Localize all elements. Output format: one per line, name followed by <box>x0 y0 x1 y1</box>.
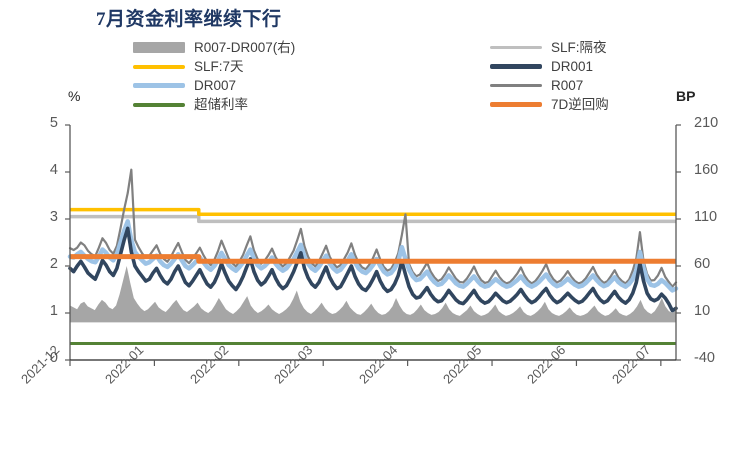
legend-item-slf-overnight[interactable]: SLF:隔夜 <box>490 38 609 57</box>
legend-swatch-icon <box>490 64 542 69</box>
legend-item-r007[interactable]: R007 <box>490 76 609 95</box>
right-axis-tick: 210 <box>694 115 738 131</box>
left-axis-tick: 5 <box>22 115 58 131</box>
right-axis-tick: 10 <box>694 303 738 319</box>
legend-item-r007-dr007[interactable]: R007-DR007(右) <box>133 38 295 57</box>
series-line-slf-overnight <box>70 217 676 222</box>
legend-item-excess-reserve-rate[interactable]: 超储利率 <box>133 95 295 114</box>
left-axis-unit-label: % <box>68 88 80 104</box>
legend-left-column: R007-DR007(右) SLF:7天 DR007 超储利率 <box>133 38 295 114</box>
chart-container: 7月资金利率继续下行 R007-DR007(右) SLF:7天 DR007 超储… <box>0 0 756 459</box>
left-axis-tick: 1 <box>22 303 58 319</box>
series-line-slf-7d <box>70 210 676 215</box>
right-axis-tick: 60 <box>694 256 738 272</box>
plot-area <box>0 0 756 459</box>
legend-item-7d-reverse-repo[interactable]: 7D逆回购 <box>490 95 609 114</box>
legend-label: R007 <box>551 79 583 93</box>
legend-label: DR001 <box>551 60 593 74</box>
right-axis-tick: 160 <box>694 162 738 178</box>
series-line-r007 <box>70 170 676 287</box>
legend-right-column: SLF:隔夜 DR001 R007 7D逆回购 <box>490 38 609 114</box>
left-axis-tick: 4 <box>22 162 58 178</box>
legend-item-slf-7d[interactable]: SLF:7天 <box>133 57 295 76</box>
legend-swatch-icon <box>133 65 185 69</box>
legend-swatch-icon <box>490 46 542 49</box>
legend-swatch-icon <box>133 42 185 53</box>
right-axis-tick: 110 <box>694 209 738 225</box>
legend-label: SLF:隔夜 <box>551 41 607 55</box>
chart-title: 7月资金利率继续下行 <box>96 4 282 31</box>
right-axis-unit-label: BP <box>676 88 695 104</box>
legend-label: R007-DR007(右) <box>194 41 295 55</box>
legend-item-dr007[interactable]: DR007 <box>133 76 295 95</box>
left-axis-tick: 2 <box>22 256 58 272</box>
legend-swatch-icon <box>133 103 185 107</box>
legend-swatch-icon <box>490 84 542 87</box>
left-axis-tick: 3 <box>22 209 58 225</box>
series-line-dr001 <box>70 228 676 310</box>
legend-label: 超储利率 <box>194 98 248 112</box>
legend-swatch-icon <box>133 83 185 88</box>
legend-label: SLF:7天 <box>194 60 244 74</box>
right-axis-tick: -40 <box>694 350 738 366</box>
legend-item-dr001[interactable]: DR001 <box>490 57 609 76</box>
legend-label: DR007 <box>194 79 236 93</box>
legend-swatch-icon <box>490 102 542 107</box>
legend-label: 7D逆回购 <box>551 98 609 112</box>
